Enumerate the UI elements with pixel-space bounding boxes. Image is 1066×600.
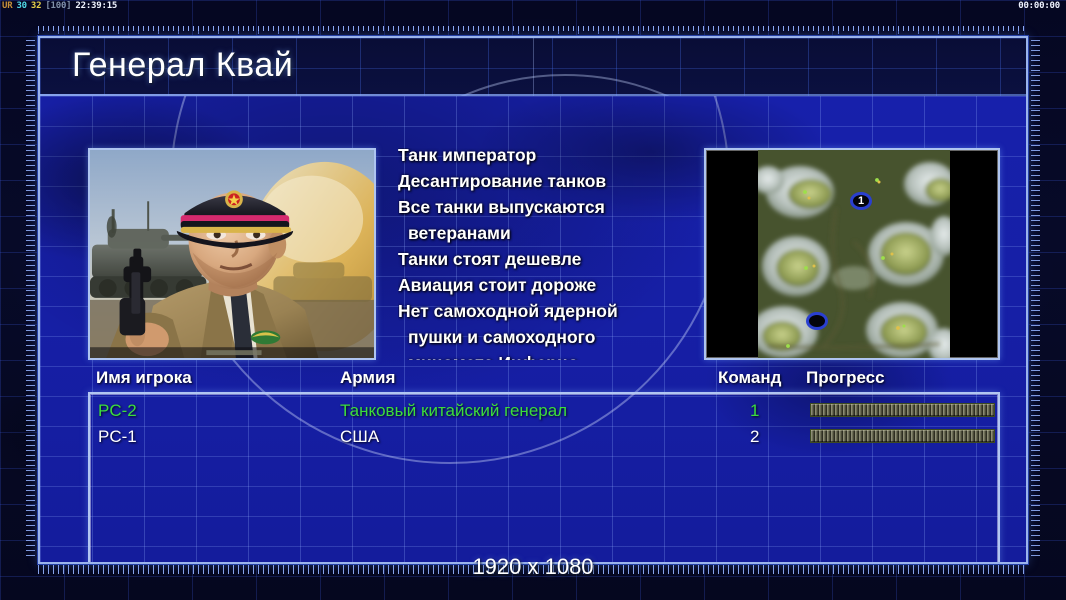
status-bar: UR3032[100]22:39:15 00:00:00 bbox=[0, 0, 1066, 12]
header-team: Команд bbox=[718, 368, 781, 388]
header-progress: Прогресс bbox=[806, 368, 885, 388]
progress-bar bbox=[810, 429, 995, 443]
progress-bar bbox=[810, 403, 995, 417]
ruler-left-decoration bbox=[26, 40, 35, 560]
description-line: ветеранами bbox=[398, 220, 694, 246]
description-line: Танки стоят дешевле bbox=[398, 246, 694, 272]
status-label-ur: UR bbox=[0, 1, 14, 11]
cell-team: 1 bbox=[750, 398, 759, 423]
cell-player_name: PC-1 bbox=[98, 424, 137, 449]
cell-army: США bbox=[340, 424, 379, 449]
cell-army: Танковый китайский генерал bbox=[340, 398, 567, 423]
player-table: PC-2Танковый китайский генерал1PC-1США2 bbox=[88, 392, 1000, 562]
status-value-a: 30 bbox=[14, 1, 28, 11]
cell-player_name: PC-2 bbox=[98, 398, 137, 423]
minimap-start-marker[interactable] bbox=[806, 312, 828, 330]
ruler-right-decoration bbox=[1031, 40, 1040, 560]
general-description: Танк императорДесантирование танковВсе т… bbox=[398, 148, 694, 360]
description-line: Танк император bbox=[398, 148, 694, 168]
resolution-label: 1920 x 1080 bbox=[0, 554, 1066, 580]
description-line: Все танки выпускаются bbox=[398, 194, 694, 220]
window-inner: Генерал Квай bbox=[38, 36, 1028, 564]
ruler-top-decoration bbox=[38, 26, 1028, 34]
status-value-b: 32 bbox=[29, 1, 43, 11]
page-title: Генерал Квай bbox=[72, 46, 293, 85]
window-frame: Генерал Квай bbox=[22, 26, 1044, 574]
description-line: пушки и самоходного bbox=[398, 324, 694, 350]
header-player-name: Имя игрока bbox=[96, 368, 192, 388]
minimap-terrain bbox=[758, 150, 950, 360]
status-right-clock: 00:00:00 bbox=[1018, 0, 1060, 12]
player-table-header: Имя игрока Армия Команд Прогресс bbox=[88, 368, 1000, 392]
status-bracket: [100] bbox=[43, 1, 73, 11]
general-portrait-image bbox=[90, 150, 374, 359]
header-army: Армия bbox=[340, 368, 395, 388]
cell-team: 2 bbox=[750, 424, 759, 449]
vline-decoration bbox=[533, 38, 534, 96]
table-row[interactable]: PC-2Танковый китайский генерал1 bbox=[90, 398, 998, 423]
app-screen: UR3032[100]22:39:15 00:00:00 Генерал Ква… bbox=[0, 0, 1066, 600]
minimap-start-marker[interactable]: 1 bbox=[850, 192, 872, 210]
description-line: миномета Инферно bbox=[398, 350, 694, 360]
description-line: Авиация стоит дороже bbox=[398, 272, 694, 298]
window-body: Танк императорДесантирование танковВсе т… bbox=[40, 96, 1026, 562]
info-row: Танк императорДесантирование танковВсе т… bbox=[88, 148, 1000, 360]
minimap-panel[interactable]: 1 bbox=[704, 148, 1000, 360]
title-band: Генерал Квай bbox=[40, 38, 1026, 96]
table-row[interactable]: PC-1США2 bbox=[90, 424, 998, 449]
general-portrait-panel bbox=[88, 148, 376, 360]
status-clock: 22:39:15 bbox=[73, 1, 119, 11]
description-line: Десантирование танков bbox=[398, 168, 694, 194]
description-line: Нет самоходной ядерной bbox=[398, 298, 694, 324]
minimap-image[interactable]: 1 bbox=[758, 150, 950, 360]
